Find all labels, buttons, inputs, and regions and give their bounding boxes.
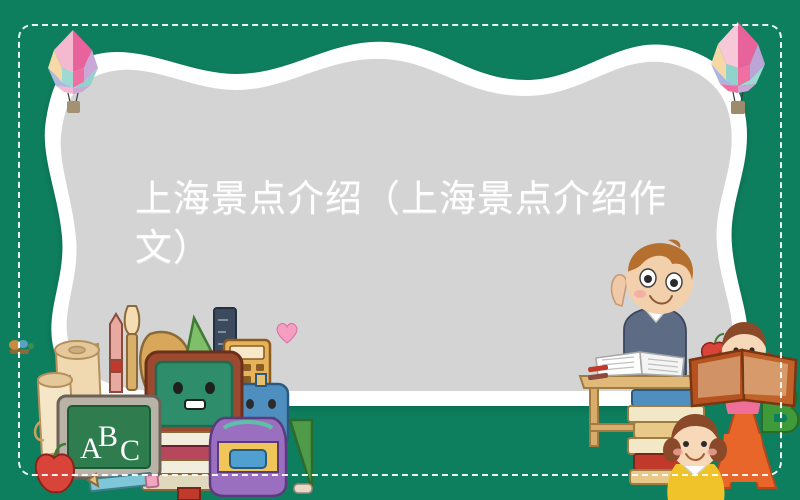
hot-air-balloon-left-icon bbox=[44, 28, 102, 114]
svg-text:C: C bbox=[120, 434, 140, 467]
svg-text:B: B bbox=[98, 420, 118, 453]
poster-canvas: 上海景点介绍（上海景点介绍作文） bbox=[0, 0, 800, 500]
brushes-and-pencils bbox=[110, 306, 139, 392]
chalk bbox=[294, 484, 312, 493]
triangle-ruler-right bbox=[290, 420, 312, 490]
school-supplies-cluster: A B C bbox=[28, 300, 313, 500]
backpack bbox=[210, 418, 286, 496]
children-studying-cluster bbox=[572, 238, 800, 500]
hot-air-balloon-right-icon bbox=[706, 20, 768, 116]
